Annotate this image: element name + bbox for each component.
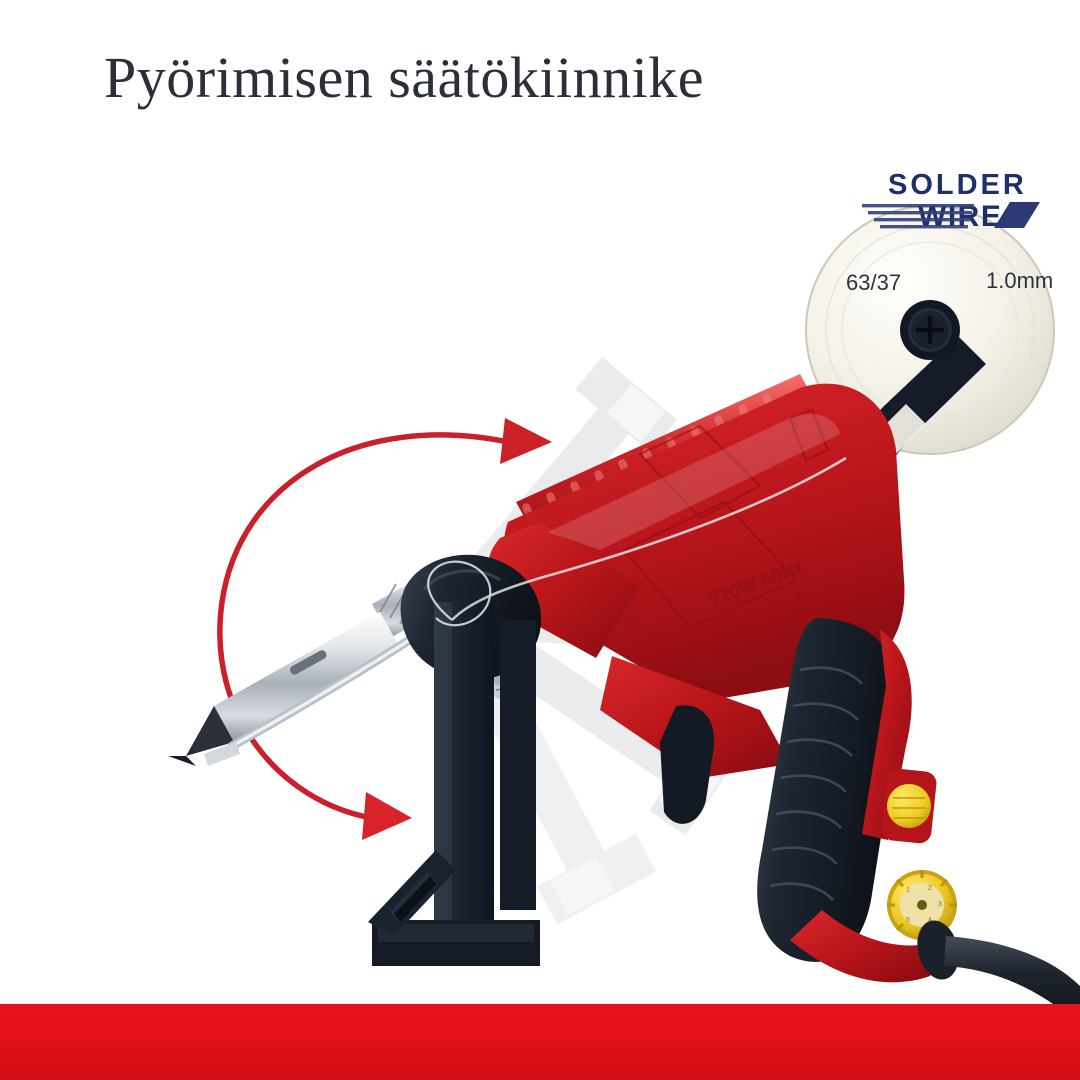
svg-text:5: 5 [906, 917, 910, 924]
spool-brand-line1: SOLDER [888, 169, 1027, 201]
svg-text:2: 2 [928, 885, 932, 892]
svg-text:3: 3 [938, 901, 942, 908]
stand-leg-rear [500, 620, 536, 910]
power-button[interactable] [880, 768, 937, 845]
svg-text:1: 1 [906, 887, 910, 894]
product-marketing-image: Pyörimisen säätökiinnike [0, 0, 1080, 1080]
spool-alloy: 63/37 [846, 270, 901, 295]
spool-diameter: 1.0mm [986, 268, 1053, 293]
product-illustration: SOLDER WIRE 63/37 1.0mm [0, 150, 1080, 1020]
page-title: Pyörimisen säätökiinnike [104, 48, 704, 109]
bottom-accent-bar [0, 1004, 1080, 1080]
